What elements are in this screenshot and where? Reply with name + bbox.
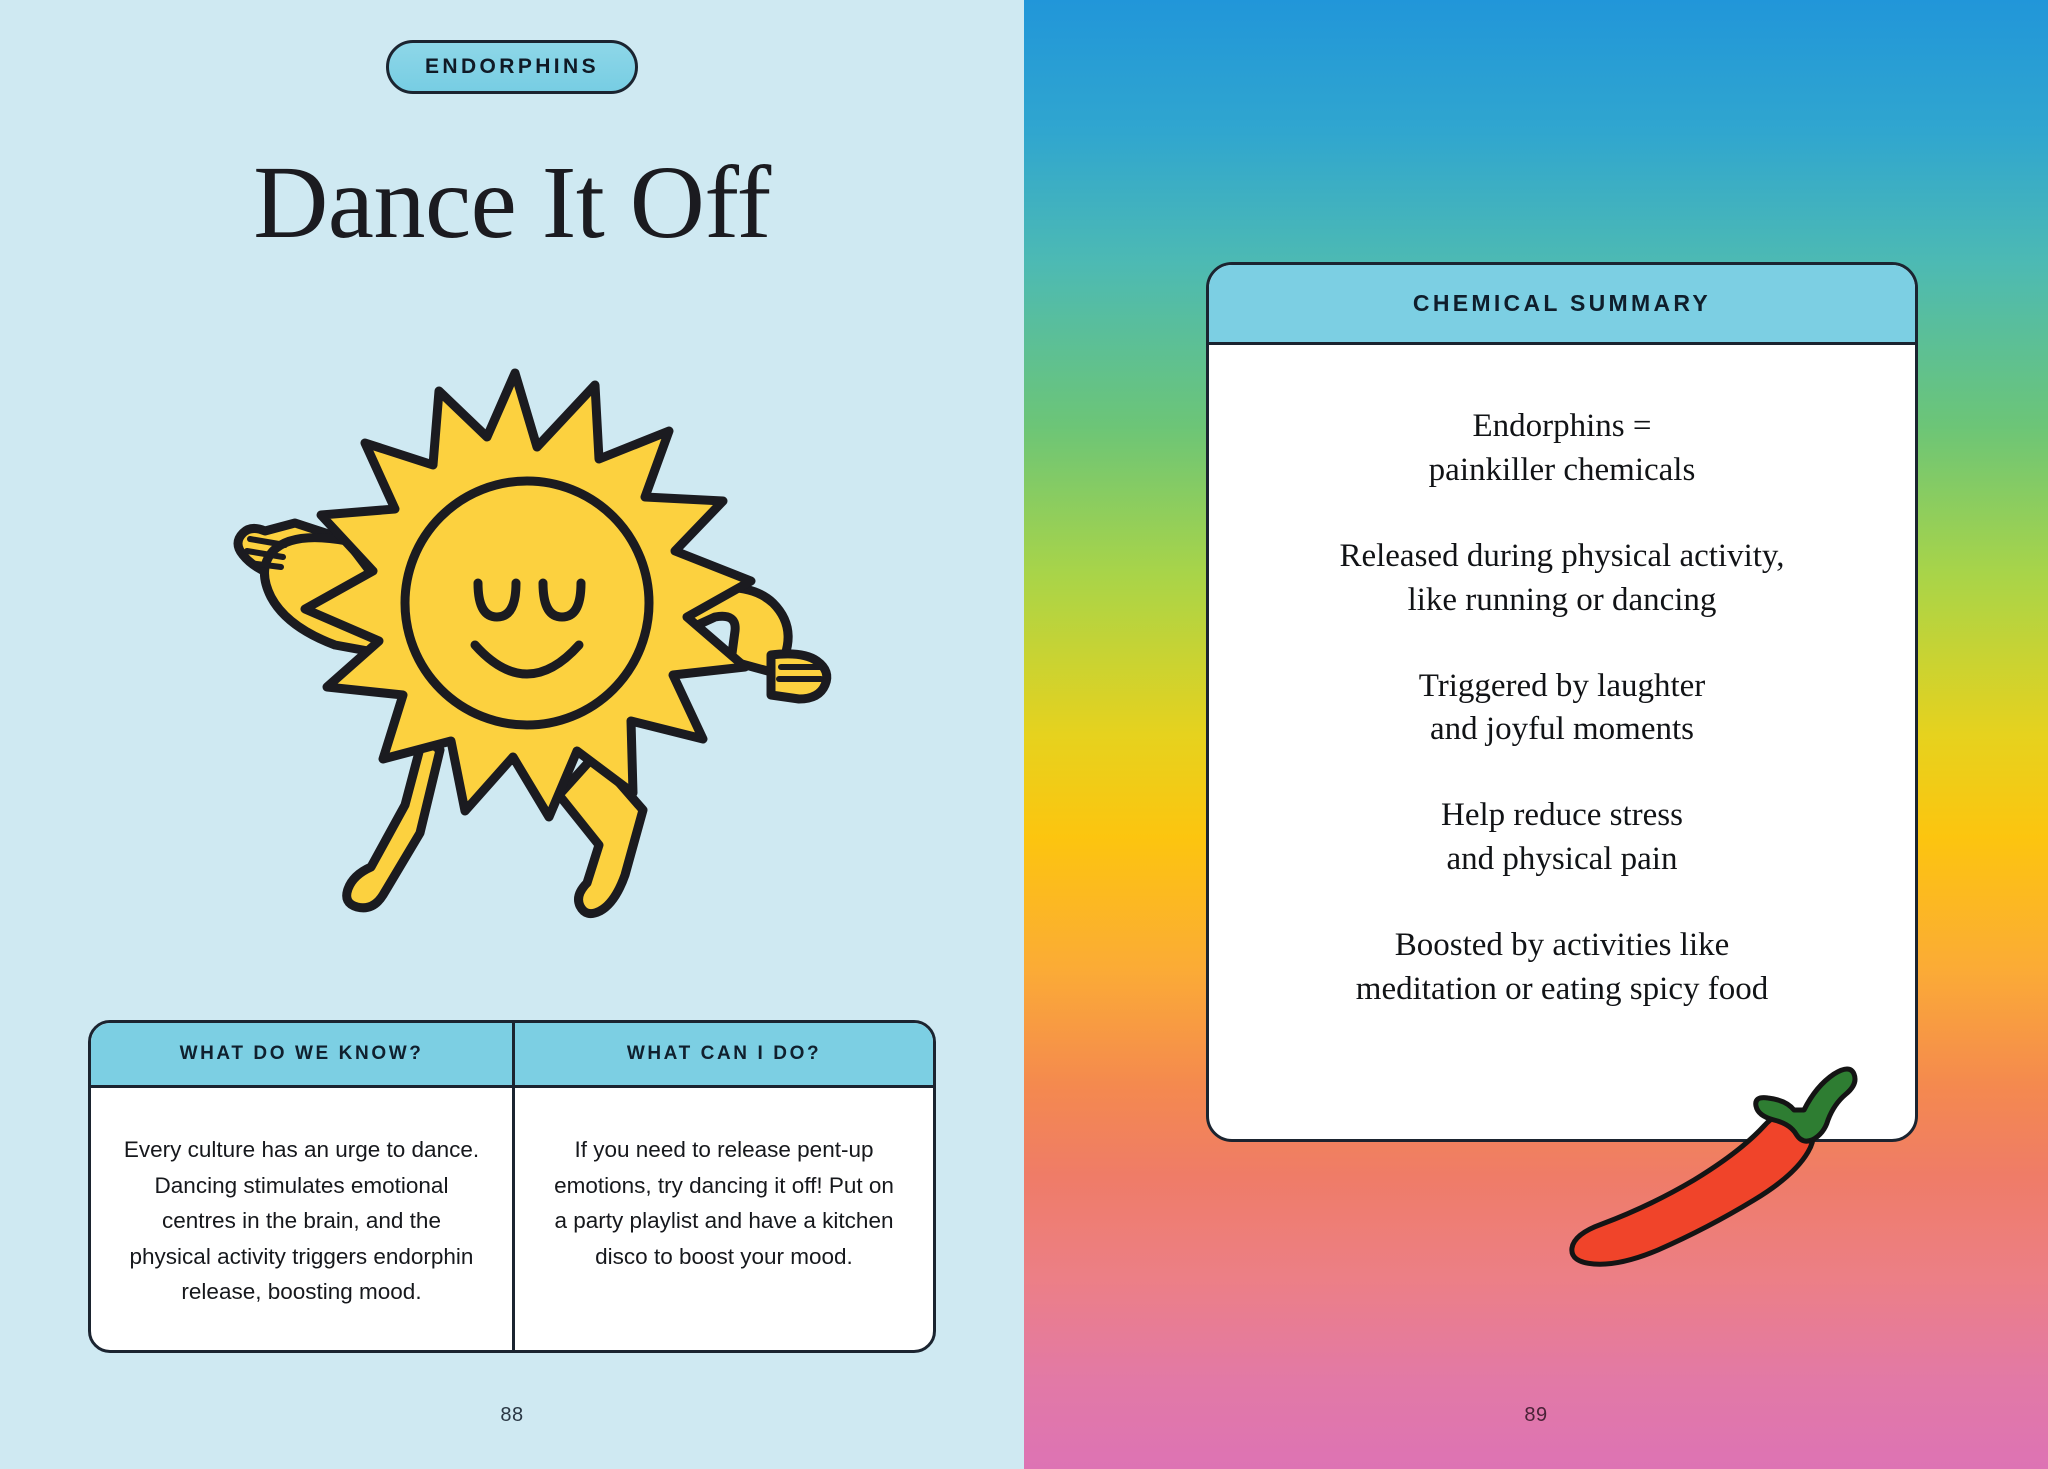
page-number-left: 88 (0, 1404, 1024, 1427)
table-header-what-can-i-do: WHAT CAN I DO? (512, 1023, 933, 1085)
summary-line: Boosted by activities like meditation or… (1249, 924, 1875, 1012)
table-header-what-do-we-know: WHAT DO WE KNOW? (91, 1023, 512, 1085)
chapter-tag-container: ENDORPHINS (0, 40, 1024, 94)
chemical-summary-title: CHEMICAL SUMMARY (1209, 265, 1915, 345)
table-cell-what-can-i-do: If you need to release pent-up emotions,… (512, 1088, 933, 1350)
table-cell-what-do-we-know: Every culture has an urge to dance. Danc… (91, 1088, 512, 1350)
what-we-know-table: WHAT DO WE KNOW? WHAT CAN I DO? Every cu… (88, 1020, 936, 1353)
table-header-row: WHAT DO WE KNOW? WHAT CAN I DO? (91, 1023, 933, 1088)
summary-line: Released during physical activity, like … (1249, 535, 1875, 623)
chapter-tag-endorphins: ENDORPHINS (386, 40, 638, 94)
left-page: ENDORPHINS Dance It Off (0, 0, 1024, 1469)
page-number-right: 89 (1024, 1404, 2048, 1427)
right-page: CHEMICAL SUMMARY Endorphins = painkiller… (1024, 0, 2048, 1469)
chemical-summary-card: CHEMICAL SUMMARY Endorphins = painkiller… (1206, 262, 1918, 1142)
page-title: Dance It Off (0, 148, 1024, 257)
table-body-row: Every culture has an urge to dance. Danc… (91, 1088, 933, 1350)
chemical-summary-body: Endorphins = painkiller chemicals Releas… (1209, 345, 1915, 1139)
summary-line: Endorphins = painkiller chemicals (1249, 405, 1875, 493)
summary-line: Help reduce stress and physical pain (1249, 794, 1875, 882)
summary-line: Triggered by laughter and joyful moments (1249, 665, 1875, 753)
book-spread: ENDORPHINS Dance It Off (0, 0, 2048, 1469)
dancing-sun-illustration (175, 355, 855, 925)
